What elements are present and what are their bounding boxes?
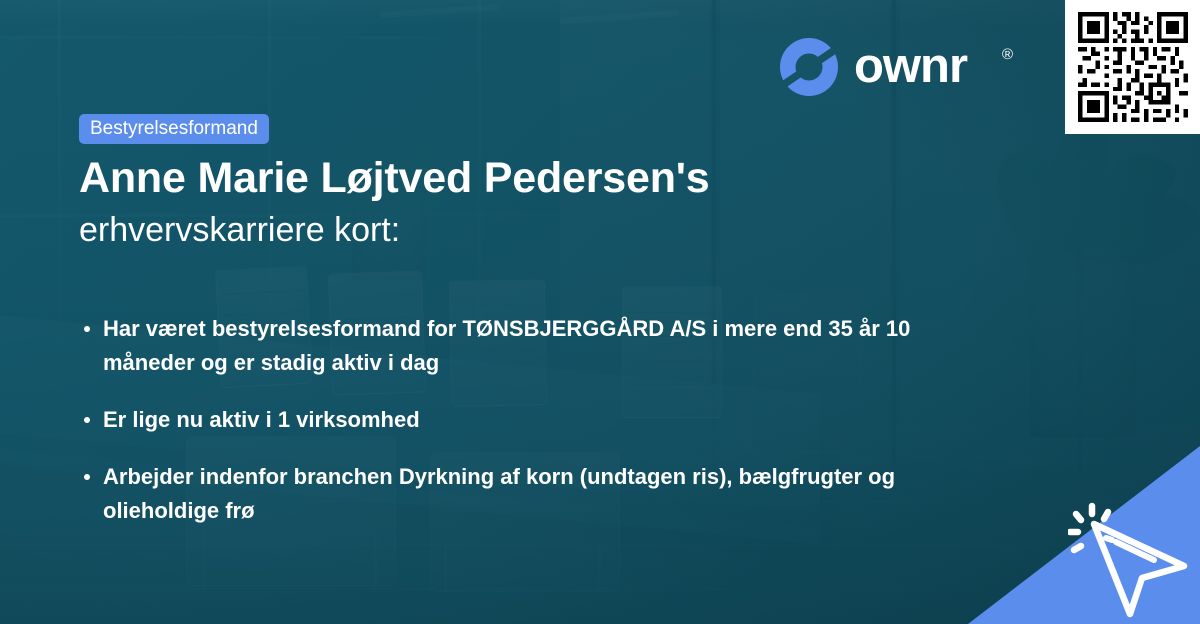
page-title: Anne Marie Løjtved Pedersen's bbox=[79, 152, 979, 204]
list-item: Arbejder indenfor branchen Dyrkning af k… bbox=[79, 460, 959, 528]
career-facts-list: Har været bestyrelsesformand for TØNSBJE… bbox=[79, 312, 959, 551]
ownr-logo[interactable]: ownr ® bbox=[778, 36, 1028, 98]
svg-text:ownr: ownr bbox=[854, 39, 968, 93]
page-subtitle: erhvervskarriere kort: bbox=[79, 208, 979, 252]
svg-text:®: ® bbox=[1002, 46, 1013, 63]
ownr-circle-swirl-icon bbox=[778, 36, 840, 98]
list-item: Har været bestyrelsesformand for TØNSBJE… bbox=[79, 312, 959, 380]
social-share-card: Bestyrelsesformand Anne Marie Løjtved Pe… bbox=[0, 0, 1200, 624]
ownr-wordmark: ownr ® bbox=[854, 39, 1026, 95]
click-cursor-icon bbox=[1068, 502, 1194, 618]
role-badge: Bestyrelsesformand bbox=[79, 114, 269, 144]
list-item: Er lige nu aktiv i 1 virksomhed bbox=[79, 403, 959, 437]
qr-code[interactable] bbox=[1078, 12, 1188, 122]
